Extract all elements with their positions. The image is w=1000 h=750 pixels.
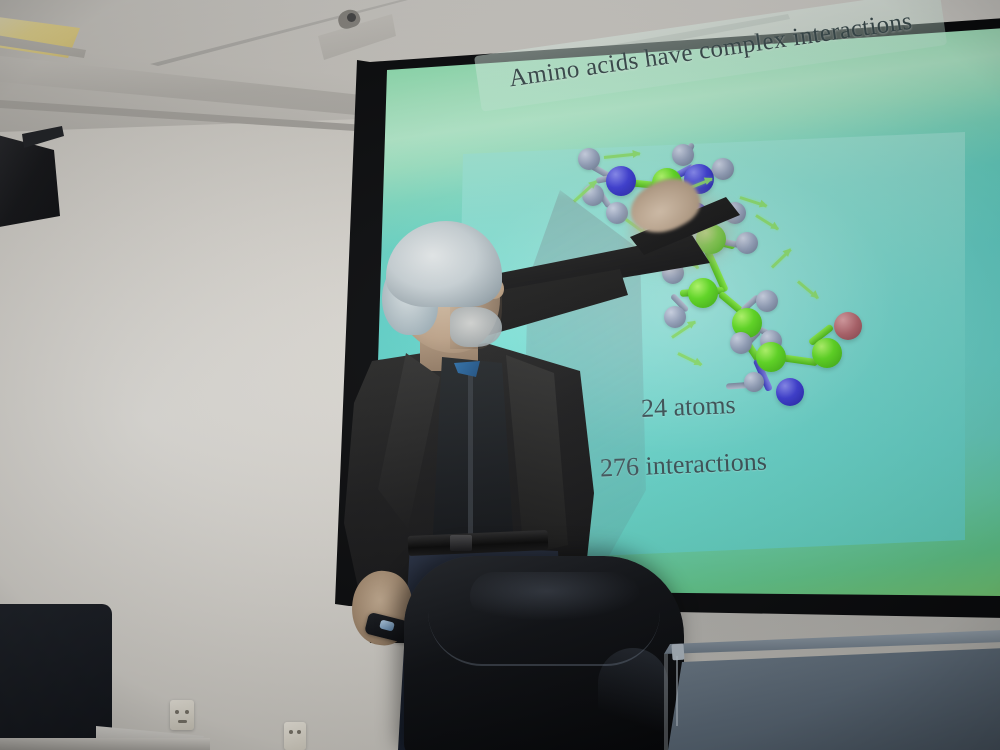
outlet-socket-hole: [289, 730, 293, 734]
board-edge: [664, 654, 668, 750]
atom-oxygen: [834, 312, 862, 340]
wall-outlet[interactable]: [284, 722, 306, 750]
atom-carbon: [812, 338, 842, 368]
force-arrow: [797, 280, 819, 299]
atom-hydrogen: [744, 372, 764, 392]
shirt-placket: [468, 375, 473, 547]
atom-hydrogen: [756, 290, 778, 312]
board-string: [676, 656, 678, 726]
table-edge: [0, 738, 210, 750]
atom-hydrogen: [730, 332, 752, 354]
force-arrow: [755, 214, 779, 230]
screen-mount-bolt: [347, 13, 356, 22]
force-arrow: [604, 152, 640, 159]
force-arrow: [771, 248, 792, 268]
outlet-socket-hole: [175, 710, 179, 714]
wall-board: [660, 648, 1000, 750]
atom-carbon: [756, 342, 786, 372]
atom-hydrogen: [712, 158, 734, 180]
board-clip: [671, 644, 684, 661]
wall-outlet[interactable]: [170, 700, 194, 730]
presenter-hair: [386, 221, 502, 307]
lecture-room-photo: Amino acids have complex interactions: [0, 0, 1000, 750]
laptop-lid[interactable]: [0, 604, 112, 750]
atom-hydrogen: [672, 144, 694, 166]
outlet-socket-hole: [297, 730, 301, 734]
presenter-beard: [450, 307, 502, 347]
belt-buckle: [450, 535, 472, 551]
atom-nitrogen: [776, 378, 804, 406]
atom-hydrogen: [578, 148, 600, 170]
chair-highlight: [598, 648, 668, 748]
outlet-socket-hole: [185, 710, 189, 714]
outlet-socket-slot: [178, 720, 187, 723]
